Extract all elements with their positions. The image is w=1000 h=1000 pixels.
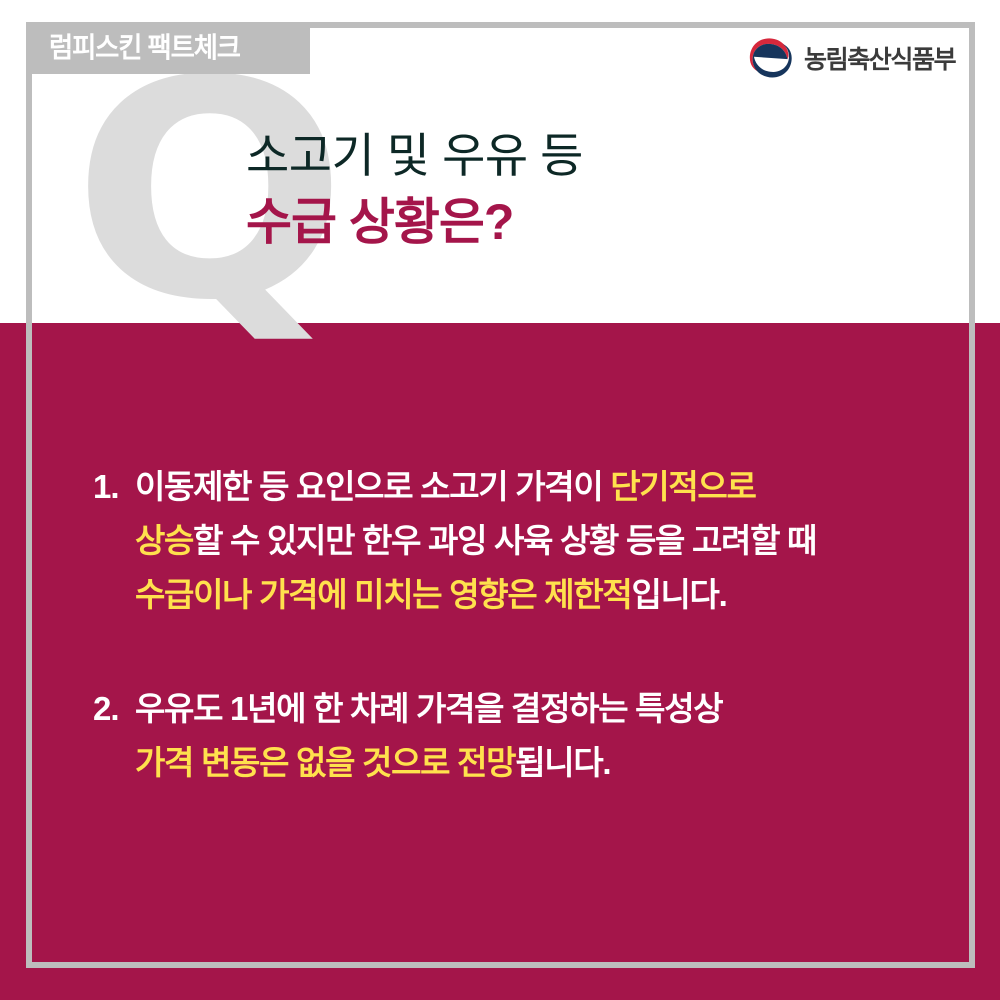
answer-line: 이동제한 등 요인으로 소고기 가격이 단기적으로 [135,460,933,514]
fact-check-card: 럼피스킨 팩트체크 농림축산식품부 Q 소고기 및 우유 등 수급 상황은? 1… [0,0,1000,1000]
answer-body: 우유도 1년에 한 차례 가격을 결정하는 특성상가격 변동은 없을 것으로 전… [135,682,933,790]
answer-line: 상승할 수 있지만 한우 과잉 사육 상황 등을 고려할 때 [135,514,933,568]
answer-highlight-text: 수급이나 가격에 미치는 영향은 제한적 [135,576,631,613]
frame-border-bottom [26,962,975,968]
answer-highlight-text: 단기적으로 [610,468,755,505]
question-watermark-letter: Q [72,72,234,312]
answer-plain-text: 입니다. [631,576,726,613]
answer-item: 1.이동제한 등 요인으로 소고기 가격이 단기적으로상승할 수 있지만 한우 … [93,460,933,622]
answer-marker: 1. [93,460,135,514]
answer-highlight-text: 상승 [135,522,193,559]
answer-highlight-text: 가격 변동은 없을 것으로 전망 [135,744,515,781]
answer-plain-text: 할 수 있지만 한우 과잉 사육 상황 등을 고려할 때 [193,522,816,559]
question-line-2: 수급 상황은? [246,193,583,252]
frame-border-right [969,22,975,968]
frame-border-left [26,22,32,968]
answer-line: 우유도 1년에 한 차례 가격을 결정하는 특성상 [135,682,933,736]
series-tag-banner: 럼피스킨 팩트체크 [26,22,310,74]
answer-body: 이동제한 등 요인으로 소고기 가격이 단기적으로상승할 수 있지만 한우 과잉… [135,460,933,622]
series-tag-label-strong: 팩트체크 [148,32,240,63]
answer-list: 1.이동제한 등 요인으로 소고기 가격이 단기적으로상승할 수 있지만 한우 … [93,460,933,790]
answer-plain-text: 됩니다. [515,744,610,781]
answer-plain-text: 우유도 1년에 한 차례 가격을 결정하는 특성상 [135,690,722,727]
taegeuk-icon [748,37,794,83]
answer-item: 2.우유도 1년에 한 차례 가격을 결정하는 특성상가격 변동은 없을 것으로… [93,682,933,790]
answer-marker: 2. [93,682,135,736]
series-tag-label-plain: 럼피스킨 [49,32,148,63]
answer-line: 가격 변동은 없을 것으로 전망됩니다. [135,736,933,790]
ministry-name-label: 농림축산식품부 [804,48,955,73]
answer-plain-text: 이동제한 등 요인으로 소고기 가격이 [135,468,610,505]
answer-line: 수급이나 가격에 미치는 영향은 제한적입니다. [135,568,933,622]
question-line-1: 소고기 및 우유 등 [246,128,583,183]
question-block: 소고기 및 우유 등 수급 상황은? [246,128,583,252]
series-tag-text: 럼피스킨 팩트체크 [49,34,240,62]
ministry-logo: 농림축산식품부 [748,36,955,84]
